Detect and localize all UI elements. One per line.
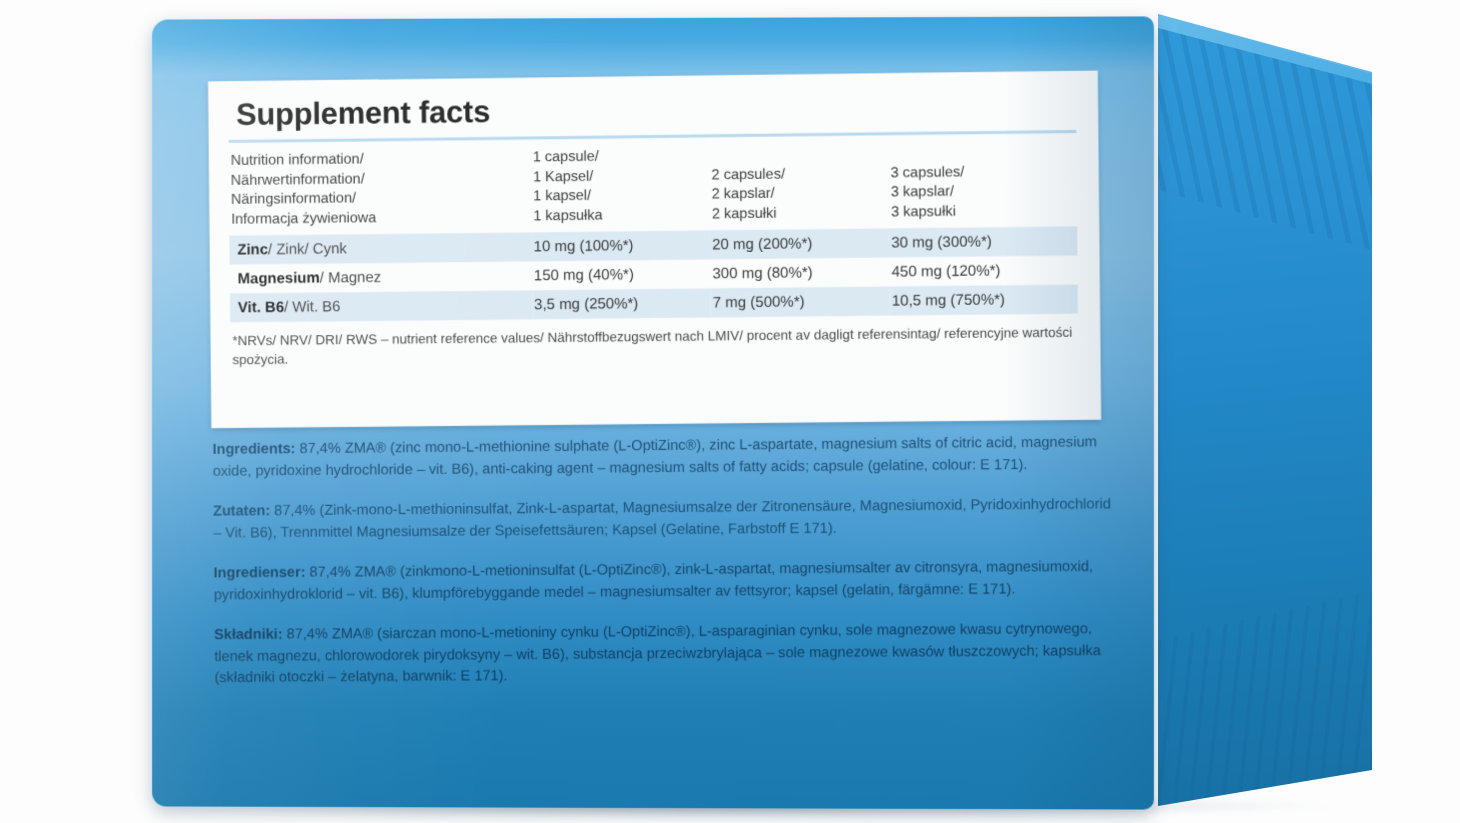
table-header-row: Nutrition information/ Nährwertinformati… [229,139,1078,236]
product-photo-stage: Supplement facts Nutrition information/ … [0,0,1460,823]
nutrient-name-translations: / Wit. B6 [284,298,341,316]
box-front-face: Supplement facts Nutrition information/ … [152,16,1154,809]
ingredients-heading-swedish: Ingredienser: [214,565,306,582]
dose-line: 1 kapsułka [533,205,708,226]
ingredients-paragraph-german: Zutaten: 87,4% (Zink-mono-L-methioninsul… [213,494,1118,544]
nutrient-value-2: 300 mg (80%*) [710,257,889,288]
nutrient-name-translations: / Magnez [320,269,382,287]
ingredients-text-german: 87,4% (Zink-mono-L-methioninsulfat, Zink… [213,496,1111,541]
ingredients-heading-polish: Składniki: [214,627,283,643]
nutrient-name-bold: Zinc [237,241,268,258]
nutrient-name-cell: Magnesium/ Magnez [230,261,532,293]
dose-line: 1 Kapsel/ [533,166,708,188]
dose-line: 1 kapsel/ [533,185,708,206]
header-dose-3-capsules: 3 capsules/ 3 kapslar/ 3 kapsułki [888,139,1077,228]
nutrient-value-3: 450 mg (120%*) [889,255,1077,286]
nutrient-value-3: 30 mg (300%*) [889,226,1077,257]
nutrient-name-cell: Zinc/ Zink/ Cynk [229,232,531,264]
dose-line: 3 capsules/ [891,162,1075,184]
nutrient-value-3: 10,5 mg (750%*) [890,285,1078,316]
dose-line: 1 capsule/ [533,146,708,168]
ingredients-paragraph-english: Ingredients: 87,4% ZMA® (zinc mono-L-met… [212,432,1117,483]
nutrient-value-1: 150 mg (40%*) [532,259,711,290]
nutrient-value-1: 10 mg (100%*) [532,230,711,261]
dose-line: 2 kapsułki [712,203,887,224]
header-label-line: Informacja żywieniowa [231,207,529,230]
ingredients-paragraph-swedish: Ingredienser: 87,4% ZMA® (zinkmono-L-met… [214,557,1119,607]
ingredients-text-english: 87,4% ZMA® (zinc mono-L-methionine sulph… [213,434,1097,479]
ingredients-heading-english: Ingredients: [212,441,295,458]
nutrient-value-2: 7 mg (500%*) [711,286,890,317]
ingredients-text-swedish: 87,4% ZMA® (zinkmono-L-metioninsulfat (L… [214,559,1093,603]
nutrient-name-cell: Vit. B6/ Wit. B6 [230,290,532,322]
supplement-facts-panel: Supplement facts Nutrition information/ … [208,71,1101,429]
nutrient-value-1: 3,5 mg (250%*) [532,288,711,319]
ingredients-text-polish: 87,4% ZMA® (siarczan mono-L-metioniny cy… [214,621,1101,686]
nutrient-name-translations: / Zink/ Cynk [268,240,347,258]
nutrient-name-bold: Vit. B6 [238,299,284,316]
nrv-footnote: *NRVs/ NRV/ DRI/ RWS – nutrient referenc… [232,324,1074,370]
nutrient-name-bold: Magnesium [238,270,320,288]
ingredients-heading-german: Zutaten: [213,503,270,519]
dose-line: 2 kapslar/ [712,183,887,205]
nutrient-value-2: 20 mg (200%*) [710,228,889,259]
page-title: Supplement facts [236,87,1076,133]
ingredients-paragraph-polish: Składniki: 87,4% ZMA® (siarczan mono-L-m… [214,619,1120,690]
dose-line: 2 capsules/ [711,164,886,186]
supplement-facts-table: Nutrition information/ Nährwertinformati… [229,139,1078,322]
header-label-cell: Nutrition information/ Nährwertinformati… [229,145,532,235]
dose-line: 3 kapsułki [891,201,1075,223]
header-dose-1-capsule: 1 capsule/ 1 Kapsel/ 1 kapsel/ 1 kapsułk… [531,143,710,232]
ingredients-section: Ingredients: 87,4% ZMA® (zinc mono-L-met… [212,432,1119,708]
header-dose-2-capsules: 2 capsules/ 2 kapslar/ 2 kapsułki [709,141,889,230]
dose-line: 3 kapslar/ [891,181,1075,203]
